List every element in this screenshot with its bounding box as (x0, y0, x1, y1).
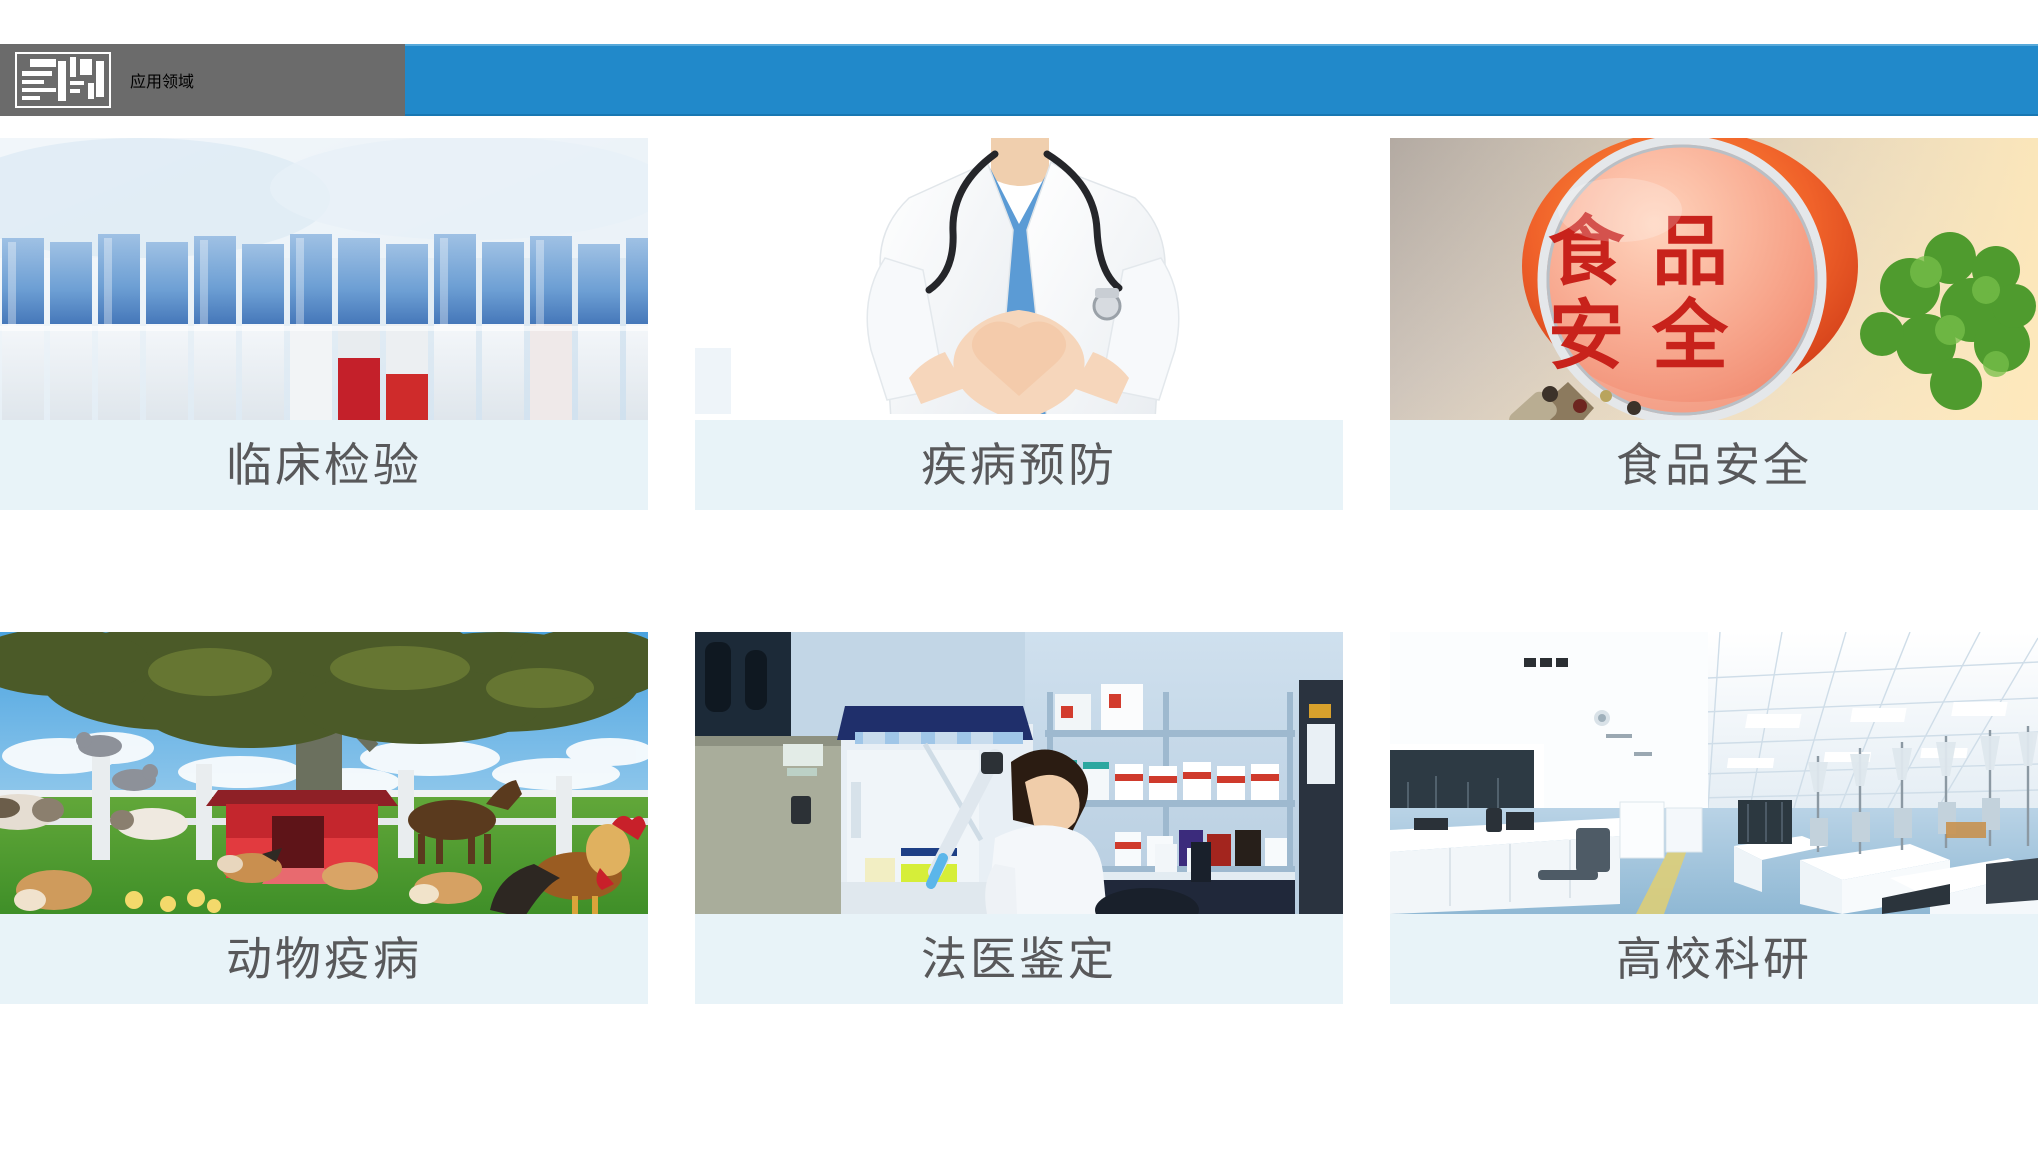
page-header: 应用领域 (0, 44, 2038, 116)
card-label: 临床检验 (226, 442, 422, 488)
page-title: 应用领域 (130, 68, 194, 92)
svg-text:全: 全 (1651, 291, 1729, 380)
food-safety-magnifier-photo: 食 品 安 全 (1390, 138, 2038, 420)
card-label: 疾病预防 (921, 442, 1117, 488)
card-label: 法医鉴定 (921, 936, 1117, 982)
card-label: 高校科研 (1616, 936, 1812, 982)
farm-animals-photo (0, 632, 648, 914)
university-laboratory-photo (1390, 632, 2038, 914)
lab-equipment-icon (14, 51, 112, 109)
card-caption: 高校科研 (1390, 914, 2038, 1004)
card-caption: 疾病预防 (695, 420, 1343, 510)
card-caption: 临床检验 (0, 420, 648, 510)
card-label: 动物疫病 (226, 936, 422, 982)
blood-collection-tubes-photo (0, 138, 648, 420)
card-caption: 动物疫病 (0, 914, 648, 1004)
card-caption: 食品安全 (1390, 420, 2038, 510)
forensic-lab-scientist-photo (695, 632, 1343, 914)
svg-text:安: 安 (1548, 291, 1624, 380)
card-caption: 法医鉴定 (695, 914, 1343, 1004)
header-title-tag: 应用领域 (0, 44, 405, 116)
header-blue-bar (405, 44, 2038, 116)
application-fields-grid: 临床检验 (0, 136, 2038, 1151)
card-label: 食品安全 (1616, 442, 1812, 488)
doctor-heart-hands-photo (695, 138, 1343, 420)
